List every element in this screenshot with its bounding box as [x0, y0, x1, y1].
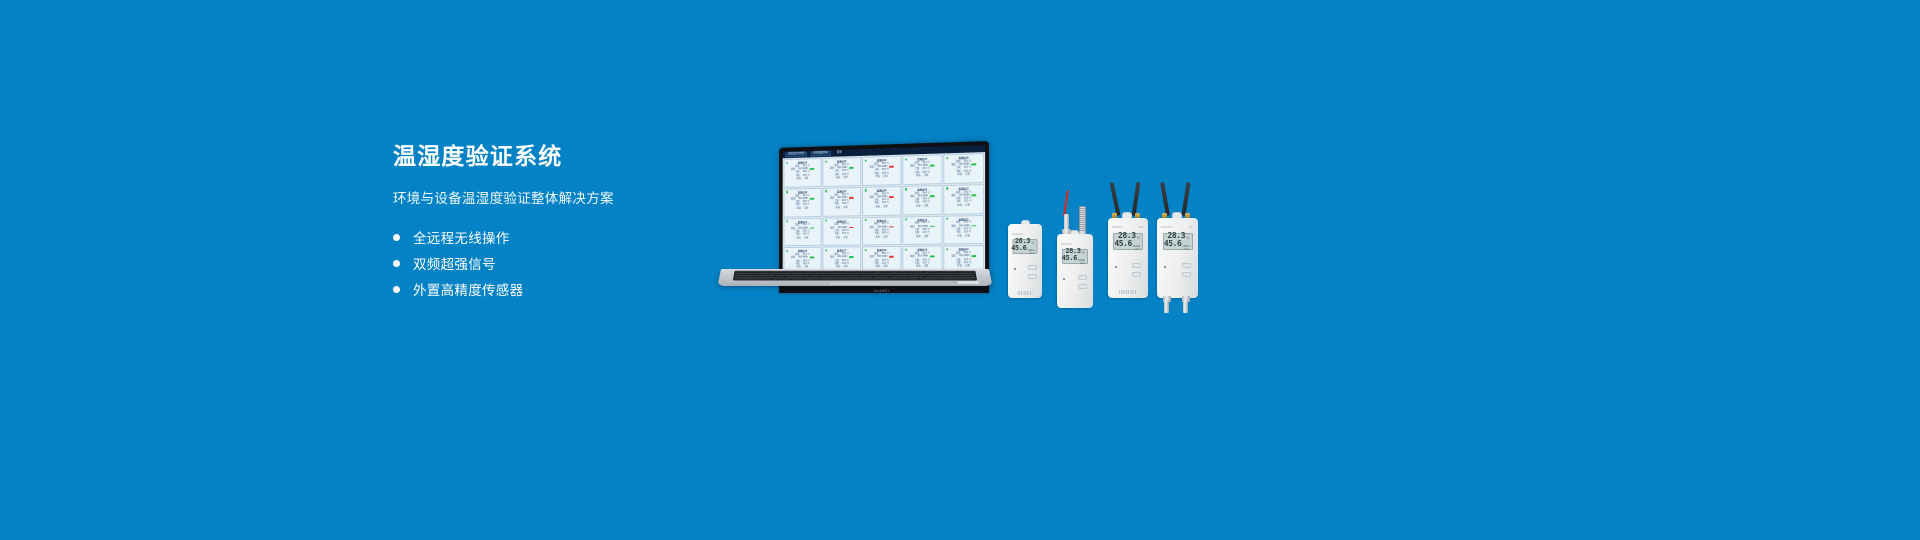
status-dot-icon [864, 159, 866, 161]
laptop-brand-label: HUAWEI [779, 289, 989, 293]
status-dot-icon [786, 162, 788, 164]
page-title: 温湿度验证系统 [393, 143, 733, 171]
device-body: ENSON 28.3 ℃ 45.6 %RH REC [1008, 224, 1042, 298]
alarm-badge [849, 197, 853, 199]
sensor-field-key: 状态： [797, 237, 803, 240]
sensor-card[interactable]: 监测点10温度：28.3 ℃湿度：45.6 %RH上限：30.0 ℃下限：15.… [943, 184, 984, 214]
sensor-card-field: 状态：正常 [946, 204, 981, 208]
sensor-field-key: 状态： [957, 204, 964, 207]
sensor-field-key: 状态： [876, 236, 882, 239]
status-dot-icon [864, 249, 866, 251]
device-model-label: H8 [1189, 226, 1193, 229]
status-badge [930, 225, 934, 227]
laptop-base [718, 269, 993, 286]
sensor-card[interactable]: 监测点08温度：28.3 ℃湿度：45.6 %RH上限：30.0 ℃下限：15.… [862, 186, 901, 216]
sensor-card-field: 状态：正常 [865, 175, 899, 179]
sensor-card-field: 状态：正常 [786, 207, 819, 211]
sensor-field-value: 正常 [804, 207, 808, 210]
status-badge [972, 225, 976, 227]
bullet-dot-icon [393, 260, 400, 267]
device-model-label: H8 [1139, 226, 1143, 229]
sensor-field-key: 状态： [916, 175, 923, 178]
lcd-footer-label: REC [1116, 248, 1140, 251]
lcd-humidity-line: 45.6 %RH [1166, 240, 1190, 248]
sensor-field-value: 正常 [843, 177, 847, 180]
lcd-humidity-line: 45.6 %RH [1065, 255, 1085, 262]
status-dot-icon [905, 249, 907, 251]
sensor-card-field: 状态：正常 [946, 173, 981, 177]
sensor-filter-mesh-icon [1079, 206, 1086, 232]
device-brand-label: ENSON [1061, 243, 1072, 246]
device-button-up[interactable] [1132, 263, 1141, 268]
sensor-field-value: 正常 [883, 236, 887, 239]
lcd-humidity-value: 45.6 [1062, 255, 1077, 262]
device-button-up[interactable] [1028, 265, 1037, 270]
lcd-footer-label: REC [1166, 248, 1190, 251]
feature-label: 全远程无线操作 [413, 227, 510, 247]
external-probe-shaft-right [1183, 301, 1188, 313]
feature-label: 外置高精度传感器 [413, 279, 523, 299]
lcd-humidity-unit: %RH [1133, 245, 1140, 248]
sensor-field-key: 状态： [876, 176, 882, 179]
page-subtitle: 环境与设备温湿度验证整体解决方案 [393, 187, 733, 207]
laptop-keyboard[interactable] [733, 271, 977, 281]
sensor-field-key: 状态： [836, 207, 842, 210]
sensor-card[interactable]: 监测点09温度：28.3 ℃湿度：45.6 %RH上限：30.0 ℃下限：15.… [902, 185, 942, 215]
sensor-field-key: 状态： [836, 236, 842, 239]
lcd-humidity-unit: %RH [1027, 249, 1034, 252]
keyboard-key[interactable] [734, 278, 752, 279]
sensor-field-value: 正常 [924, 235, 928, 238]
sensor-vent-icon [1018, 291, 1033, 295]
feature-label: 双频超强信号 [413, 253, 496, 273]
sensor-field-value: 正常 [924, 175, 928, 178]
tab-alarm[interactable]: 报警 [834, 150, 844, 156]
sensor-card-grid: 监测点01温度：28.3 ℃湿度：45.6 %RH上限：30.0 ℃下限：15.… [783, 152, 985, 277]
lcd-humidity-value: 45.6 [1164, 240, 1182, 248]
sensor-card-field: 状态：正常 [786, 237, 819, 241]
lcd-humidity-value: 45.6 [1011, 245, 1026, 252]
sensor-field-value: 正常 [965, 174, 969, 177]
sensor-card[interactable]: 监测点03温度：28.3 ℃湿度：45.6 %RH上限：30.0 ℃下限：15.… [862, 156, 901, 186]
list-item: 双频超强信号 [393, 251, 733, 276]
status-badge [849, 167, 853, 169]
device-lcd-display: 28.3 ℃ 45.6 %RH REC [1113, 233, 1143, 250]
sensor-card-field: 状态：正常 [905, 205, 939, 209]
alarm-badge [889, 256, 893, 258]
promo-banner: 温湿度验证系统 环境与设备温湿度验证整体解决方案 全远程无线操作 双频超强信号 … [0, 0, 1920, 540]
device-group: ENSON 28.3 ℃ 45.6 %RH REC [1003, 180, 1233, 310]
device-lcd-display: 28.3 ℃ 45.6 %RH REC [1013, 239, 1038, 254]
keyboard-key[interactable] [920, 278, 938, 279]
sensor-card-field: 状态：正常 [786, 177, 819, 181]
device-lcd-display: 28.3 ℃ 45.6 %RH REC [1062, 249, 1088, 264]
status-badge [810, 227, 814, 229]
status-dot-icon [786, 191, 788, 193]
status-dot-icon [946, 157, 948, 159]
sensor-field-key: 状态： [876, 206, 882, 209]
lcd-humidity-unit: %RH [1078, 259, 1085, 262]
laptop-screen: 温湿度实时监控 历史数据查询 报警 监测点01温度：28.3 ℃湿度：45.6 … [783, 145, 985, 284]
lcd-humidity-line: 45.6 %RH [1016, 245, 1035, 252]
status-dot-icon [946, 248, 948, 250]
device-brand-label: ENSON [1112, 226, 1123, 229]
device-button-down[interactable] [1078, 284, 1087, 289]
bullet-dot-icon [393, 286, 400, 293]
alarm-badge [889, 196, 893, 198]
status-led-icon [1164, 266, 1166, 268]
status-badge [810, 168, 814, 170]
device-data-logger: ENSON 28.3 ℃ 45.6 %RH REC [1008, 220, 1042, 298]
status-dot-icon [905, 188, 907, 190]
laptop-sticker [957, 281, 980, 284]
antenna-right-icon [1132, 182, 1141, 216]
sensor-card[interactable]: 监测点06温度：28.3 ℃湿度：45.6 %RH上限：30.0 ℃下限：15.… [784, 188, 822, 217]
antenna-left-icon [1160, 182, 1170, 216]
sensor-field-key: 状态： [797, 207, 803, 210]
alarm-badge [849, 227, 853, 229]
sensor-field-key: 状态： [836, 177, 842, 180]
sensor-card-field: 状态：正常 [946, 235, 981, 239]
keyboard-key[interactable] [753, 278, 771, 279]
sensor-field-value: 正常 [883, 176, 887, 179]
sensor-field-value: 正常 [843, 207, 847, 210]
laptop-illustration: 温湿度实时监控 历史数据查询 报警 监测点01温度：28.3 ℃湿度：45.6 … [721, 141, 989, 297]
device-brand-label: ENSON [1012, 233, 1023, 236]
sensor-field-value: 正常 [804, 237, 808, 240]
device-brand-label: ENSON [1161, 226, 1172, 229]
sensor-card-field: 状态：正常 [905, 174, 939, 178]
lcd-footer-label: REC [1065, 262, 1085, 265]
keyboard-row [734, 278, 976, 279]
sensor-card[interactable]: 监测点12温度：28.3 ℃湿度：45.6 %RH上限：30.0 ℃下限：15.… [822, 217, 861, 246]
device-body: ENSON H8 28.3 ℃ 45.6 %RH REC [1157, 218, 1198, 298]
sensor-card[interactable]: 监测点11温度：28.3 ℃湿度：45.6 %RH上限：30.0 ℃下限：15.… [784, 217, 822, 246]
status-badge [930, 165, 934, 167]
status-badge [810, 198, 814, 200]
status-dot-icon [905, 158, 907, 160]
device-lcd-display: 28.3 ℃ 45.6 %RH REC [1163, 233, 1193, 250]
sensor-field-key: 状态： [957, 174, 964, 177]
status-led-icon [1014, 268, 1016, 270]
device-button-down[interactable] [1028, 274, 1037, 279]
status-dot-icon [825, 160, 827, 162]
status-badge [972, 163, 976, 165]
sensor-card-field: 状态：正常 [905, 235, 939, 239]
status-dot-icon [864, 189, 866, 191]
bullet-dot-icon [393, 234, 400, 241]
status-led-icon [1115, 266, 1117, 268]
device-button-down[interactable] [1132, 272, 1141, 277]
probe-shaft [1064, 214, 1069, 230]
status-dot-icon [786, 250, 788, 252]
sensor-field-value: 正常 [804, 178, 808, 181]
alarm-badge [889, 166, 893, 168]
device-data-logger-with-probe: ENSON 28.3 ℃ 45.6 %RH REC [1055, 190, 1095, 300]
sensor-field-key: 状态： [957, 235, 964, 238]
sensor-field-value: 正常 [965, 204, 969, 207]
sensor-card[interactable]: 监测点02温度：28.3 ℃湿度：45.6 %RH上限：30.0 ℃下限：15.… [822, 157, 861, 187]
sensor-card[interactable]: 监测点07温度：28.3 ℃湿度：45.6 %RH上限：30.0 ℃下限：15.… [822, 187, 861, 217]
device-button-up[interactable] [1078, 275, 1087, 280]
sensor-vent-icon [1119, 290, 1137, 294]
keyboard-key[interactable] [772, 278, 790, 279]
status-dot-icon [825, 249, 827, 251]
lcd-humidity-unit: %RH [1182, 245, 1189, 248]
sensor-field-key: 状态： [797, 178, 803, 181]
list-item: 外置高精度传感器 [393, 277, 733, 302]
sensor-card[interactable]: 监测点13温度：28.3 ℃湿度：45.6 %RH上限：30.0 ℃下限：15.… [862, 216, 901, 246]
sensor-card-field: 状态：正常 [825, 176, 858, 180]
sensor-card[interactable]: 监测点05温度：28.3 ℃湿度：45.6 %RH上限：30.0 ℃下限：15.… [943, 153, 984, 184]
feature-list: 全远程无线操作 双频超强信号 外置高精度传感器 [393, 225, 733, 302]
sensor-card-field: 状态：正常 [825, 236, 858, 240]
keyboard-key[interactable] [901, 278, 919, 279]
sensor-card[interactable]: 监测点15温度：28.3 ℃湿度：45.6 %RH上限：30.0 ℃下限：15.… [943, 215, 984, 245]
keyboard-key[interactable] [958, 278, 976, 279]
sensor-field-value: 正常 [924, 205, 928, 208]
lcd-humidity-value: 45.6 [1114, 240, 1132, 248]
probe-cable [1063, 190, 1069, 216]
sensor-card-field: 状态：正常 [865, 236, 899, 240]
status-badge [930, 256, 934, 258]
status-badge [810, 257, 814, 259]
sensor-field-key: 状态： [916, 205, 923, 208]
device-body: ENSON H8 28.3 ℃ 45.6 %RH REC [1108, 218, 1148, 298]
sensor-card[interactable]: 监测点14温度：28.3 ℃湿度：45.6 %RH上限：30.0 ℃下限：15.… [902, 215, 942, 245]
sensor-field-value: 正常 [883, 206, 887, 209]
sensor-field-value: 正常 [965, 235, 969, 238]
keyboard-key[interactable] [791, 278, 901, 279]
sensor-field-value: 正常 [843, 236, 847, 239]
lcd-humidity-line: 45.6 %RH [1116, 240, 1140, 248]
status-badge [972, 194, 976, 196]
device-button-down[interactable] [1182, 272, 1191, 277]
status-dot-icon [825, 190, 827, 192]
antenna-left-icon [1110, 182, 1121, 216]
sensor-card[interactable]: 监测点01温度：28.3 ℃湿度：45.6 %RH上限：30.0 ℃下限：15.… [784, 158, 822, 188]
external-probe-shaft-left [1164, 301, 1169, 313]
device-wireless-transmitter: ENSON H8 28.3 ℃ 45.6 %RH REC [1107, 180, 1149, 300]
status-badge [930, 195, 934, 197]
sensor-field-key: 状态： [916, 235, 923, 238]
copy-block: 温湿度验证系统 环境与设备温湿度验证整体解决方案 全远程无线操作 双频超强信号 … [393, 143, 733, 303]
sensor-card[interactable]: 监测点04温度：28.3 ℃湿度：45.6 %RH上限：30.0 ℃下限：15.… [902, 154, 942, 184]
status-led-icon [1063, 278, 1065, 280]
list-item: 全远程无线操作 [393, 225, 733, 250]
device-body: ENSON 28.3 ℃ 45.6 %RH REC [1057, 234, 1093, 308]
device-wireless-transmitter-external: ENSON H8 28.3 ℃ 45.6 %RH REC [1155, 180, 1201, 313]
status-badge [849, 256, 853, 258]
status-dot-icon [946, 187, 948, 189]
status-badge [972, 255, 976, 257]
keyboard-key[interactable] [939, 278, 957, 279]
alarm-badge [889, 226, 893, 228]
device-button-up[interactable] [1182, 263, 1191, 268]
sensor-card-field: 状态：正常 [865, 206, 899, 210]
antenna-right-icon [1181, 182, 1190, 216]
sensor-card-field: 状态：正常 [825, 206, 858, 210]
lcd-footer-label: REC [1016, 252, 1035, 255]
laptop-trackpad[interactable] [828, 282, 881, 286]
